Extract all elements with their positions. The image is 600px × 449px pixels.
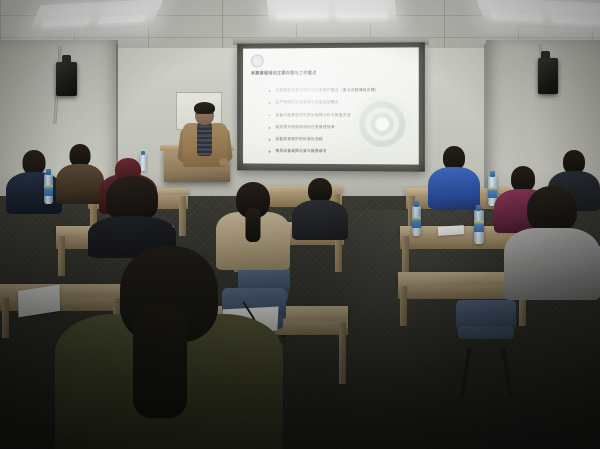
presenter-hand bbox=[219, 158, 228, 166]
wall-speaker-right bbox=[538, 58, 558, 94]
presenter-glasses bbox=[196, 113, 213, 118]
projection-screen: 本期课程培训主要内容与工作重点 介绍新型设备的操作与日常维护要点（重点讲解通用步… bbox=[237, 42, 425, 171]
slide-bullet: 介绍新型设备的操作与日常维护要点（重点讲解通用步骤） bbox=[269, 88, 411, 93]
wall-speaker-left bbox=[56, 62, 77, 96]
attendee-mid-dark bbox=[292, 178, 348, 236]
attendee-foreground-olive bbox=[54, 268, 284, 449]
slide-logo-icon bbox=[251, 54, 264, 67]
attendee-back-left-navy bbox=[6, 150, 62, 212]
long-hair bbox=[133, 302, 187, 418]
ponytail bbox=[246, 208, 261, 242]
attendee-gray-sweater bbox=[504, 186, 600, 296]
wall-corner-right bbox=[484, 44, 486, 204]
slide-title: 本期课程培训主要内容与工作重点 bbox=[251, 70, 401, 77]
phone bbox=[441, 207, 454, 212]
attendee-mid-left-dark bbox=[88, 176, 176, 250]
bottle bbox=[412, 206, 421, 236]
classroom-photo: 本期课程培训主要内容与工作重点 介绍新型设备的操作与日常维护要点（重点讲解通用步… bbox=[0, 0, 600, 449]
ceiling-light-center bbox=[267, 0, 398, 24]
attendee-beige-ponytail bbox=[216, 182, 290, 264]
presenter-sweater bbox=[197, 123, 212, 156]
attendee-blue-shirt bbox=[428, 146, 480, 206]
bottle bbox=[44, 174, 53, 204]
projected-slide: 本期课程培训主要内容与工作重点 介绍新型设备的操作与日常维护要点（重点讲解通用步… bbox=[243, 47, 419, 164]
slide-watermark-graphic bbox=[353, 95, 412, 154]
presenter bbox=[181, 104, 229, 166]
bottle bbox=[474, 210, 484, 244]
chair bbox=[456, 300, 516, 350]
paper bbox=[438, 225, 465, 236]
